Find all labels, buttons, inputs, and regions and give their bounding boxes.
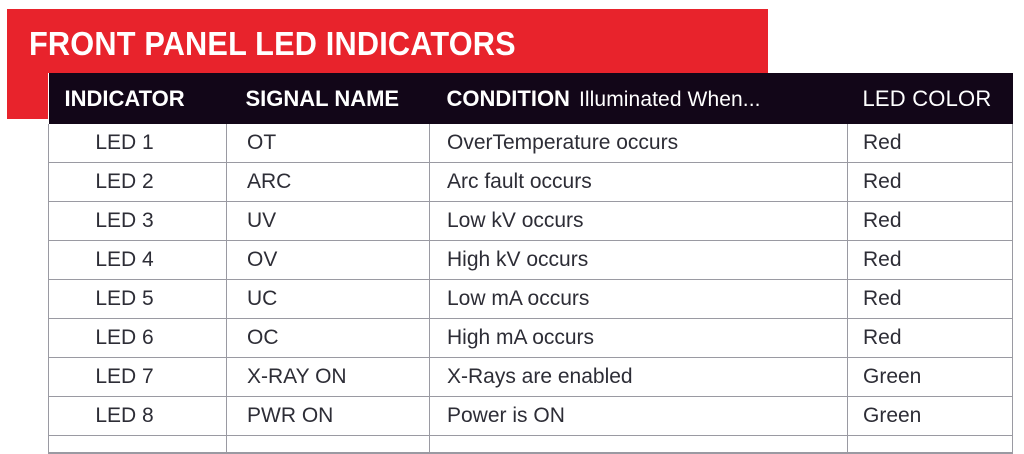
cell-signal-name: UC bbox=[227, 280, 430, 319]
table-row: LED 5UCLow mA occursRed bbox=[49, 280, 1013, 319]
column-header-indicator: INDICATOR bbox=[49, 73, 227, 124]
cell-indicator: LED 6 bbox=[49, 319, 227, 358]
table-row: LED 8PWR ONPower is ONGreen bbox=[49, 397, 1013, 436]
cell-indicator: LED 8 bbox=[49, 397, 227, 436]
column-header-condition: CONDITIONIlluminated When... bbox=[430, 73, 848, 124]
cell-condition: Arc fault occurs bbox=[430, 163, 848, 202]
cell-condition: High mA occurs bbox=[430, 319, 848, 358]
cell-signal-name: UV bbox=[227, 202, 430, 241]
led-indicator-table: INDICATOR SIGNAL NAME CONDITIONIlluminat… bbox=[48, 73, 1013, 454]
table-header: INDICATOR SIGNAL NAME CONDITIONIlluminat… bbox=[49, 73, 1013, 124]
cell-condition: OverTemperature occurs bbox=[430, 124, 848, 163]
cell-led-color: Red bbox=[848, 280, 1013, 319]
cell-led-color: Red bbox=[848, 163, 1013, 202]
cell-signal-name: OV bbox=[227, 241, 430, 280]
cell-signal-name: ARC bbox=[227, 163, 430, 202]
table-header-row: INDICATOR SIGNAL NAME CONDITIONIlluminat… bbox=[49, 73, 1013, 124]
column-header-condition-label: CONDITION bbox=[447, 86, 570, 111]
table-bottom-spacer bbox=[49, 436, 1013, 454]
cell-led-color: Red bbox=[848, 319, 1013, 358]
cell-signal-name: OC bbox=[227, 319, 430, 358]
cell-indicator: LED 1 bbox=[49, 124, 227, 163]
table-bottom-spacer-cell bbox=[227, 436, 430, 454]
cell-condition: High kV occurs bbox=[430, 241, 848, 280]
cell-signal-name: X-RAY ON bbox=[227, 358, 430, 397]
table-row: LED 1OTOverTemperature occursRed bbox=[49, 124, 1013, 163]
cell-signal-name: PWR ON bbox=[227, 397, 430, 436]
cell-condition: Power is ON bbox=[430, 397, 848, 436]
cell-condition: Low mA occurs bbox=[430, 280, 848, 319]
table-bottom-spacer-cell bbox=[848, 436, 1013, 454]
cell-indicator: LED 5 bbox=[49, 280, 227, 319]
table-bottom-spacer-cell bbox=[49, 436, 227, 454]
table-row: LED 3UVLow kV occursRed bbox=[49, 202, 1013, 241]
column-header-signal-name: SIGNAL NAME bbox=[227, 73, 430, 124]
cell-indicator: LED 7 bbox=[49, 358, 227, 397]
column-header-condition-sublabel: Illuminated When... bbox=[579, 88, 761, 111]
page-title: FRONT PANEL LED INDICATORS bbox=[29, 24, 516, 64]
cell-led-color: Green bbox=[848, 358, 1013, 397]
cell-led-color: Green bbox=[848, 397, 1013, 436]
table-body: LED 1OTOverTemperature occursRedLED 2ARC… bbox=[49, 124, 1013, 453]
cell-signal-name: OT bbox=[227, 124, 430, 163]
cell-led-color: Red bbox=[848, 241, 1013, 280]
cell-indicator: LED 3 bbox=[49, 202, 227, 241]
cell-condition: Low kV occurs bbox=[430, 202, 848, 241]
table-row: LED 4OVHigh kV occursRed bbox=[49, 241, 1013, 280]
table-row: LED 7X-RAY ONX-Rays are enabledGreen bbox=[49, 358, 1013, 397]
cell-condition: X-Rays are enabled bbox=[430, 358, 848, 397]
table-row: LED 6OCHigh mA occursRed bbox=[49, 319, 1013, 358]
cell-led-color: Red bbox=[848, 202, 1013, 241]
table-row: LED 2ARCArc fault occursRed bbox=[49, 163, 1013, 202]
table-bottom-spacer-cell bbox=[430, 436, 848, 454]
cell-led-color: Red bbox=[848, 124, 1013, 163]
column-header-led-color: LED COLOR bbox=[848, 73, 1013, 124]
cell-indicator: LED 2 bbox=[49, 163, 227, 202]
cell-indicator: LED 4 bbox=[49, 241, 227, 280]
